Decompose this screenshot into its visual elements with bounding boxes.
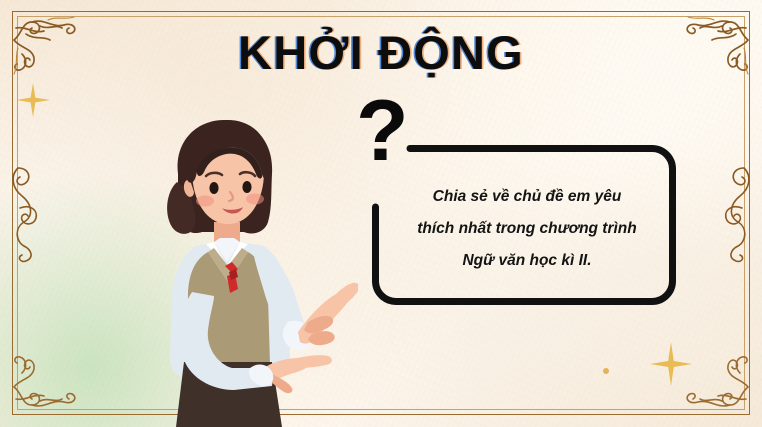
page-title: KHỞI ĐỘNG	[0, 28, 762, 77]
side-ornament-right-icon	[716, 158, 756, 270]
prompt-bubble: Chia sẻ về chủ đề em yêu thích nhất tron…	[372, 145, 676, 305]
prompt-bubble-text: Chia sẻ về chủ đề em yêu thích nhất tron…	[394, 181, 660, 277]
corner-ornament-bottom-right-icon	[650, 315, 758, 423]
prompt-line: Ngữ văn học kì II.	[394, 245, 660, 277]
slide-canvas: KHỞI ĐỘNG	[0, 0, 762, 427]
character-illustration	[122, 96, 358, 427]
side-ornament-left-icon	[6, 158, 46, 270]
sparkle-star-left-icon	[16, 83, 50, 122]
sparkle-dot-icon	[603, 368, 609, 374]
sparkle-star-bottom-right-icon	[650, 342, 692, 391]
prompt-line: Chia sẻ về chủ đề em yêu	[394, 181, 660, 213]
corner-ornament-bottom-left-icon	[4, 315, 112, 423]
question-mark-icon: ?	[356, 88, 409, 174]
prompt-line: thích nhất trong chương trình	[394, 213, 660, 245]
